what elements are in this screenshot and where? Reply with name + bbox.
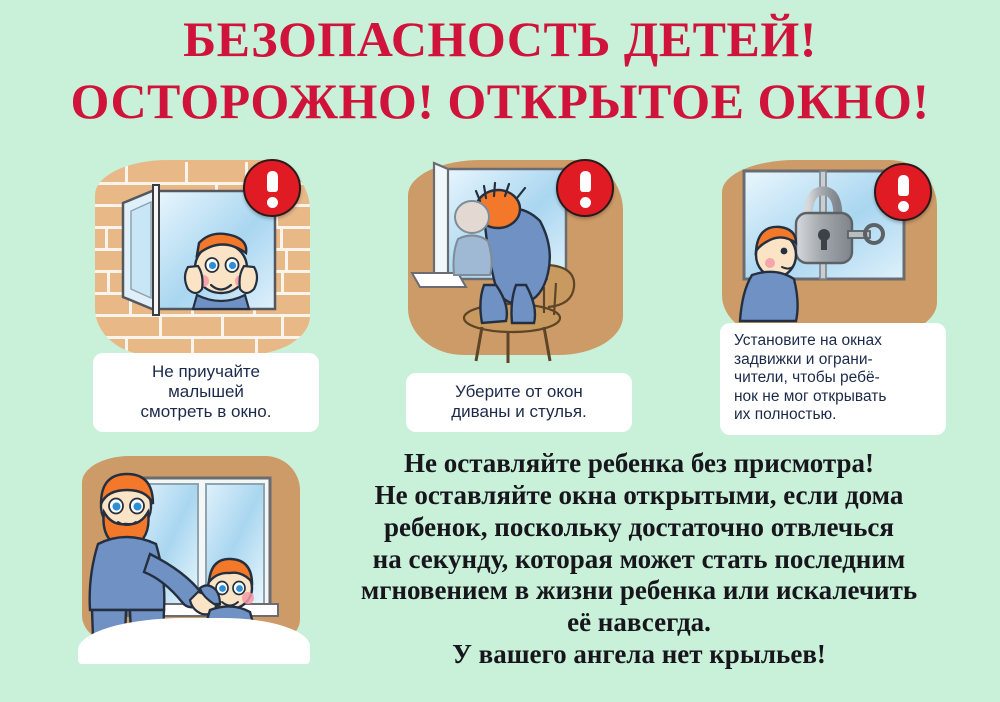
panel-caption: Уберите от окон диваны и стулья. [406, 373, 632, 432]
page-title: БЕЗОПАСНОСТЬ ДЕТЕЙ! ОСТОРОЖНО! ОТКРЫТОЕ … [0, 0, 1000, 126]
exclamation-warning-icon [556, 159, 614, 217]
exclamation-warning-icon [243, 159, 301, 217]
body-line: Не оставляйте ребенка без присмотра! [282, 448, 996, 480]
caption-line: задвижки и ограни- [734, 351, 940, 370]
body-line: Не оставляйте окна открытыми, если дома [282, 480, 996, 512]
body-line: мгновением в жизни ребенка или искалечит… [282, 575, 996, 607]
body-line: У вашего ангела нет крыльев! [282, 639, 996, 671]
panel-child-on-chair: Уберите от окон диваны и стулья. [398, 155, 648, 435]
caption-line: их полностью. [734, 406, 940, 425]
caption-line: диваны и стулья. [412, 402, 626, 422]
title-line-1: БЕЗОПАСНОСТЬ ДЕТЕЙ! [0, 14, 1000, 64]
panel-row: Не приучайте малышей смотреть в окно. [0, 155, 1000, 435]
exclamation-warning-icon [874, 163, 932, 221]
body-line: её навсегда. [282, 607, 996, 639]
body-line: на секунду, которая может стать последни… [282, 544, 996, 576]
caption-line: нок не мог открывать [734, 388, 940, 407]
panel-locked-window: Установите на окнах задвижки и ограни- ч… [712, 155, 962, 435]
caption-line: чители, чтобы ребё- [734, 369, 940, 388]
body-line: ребенок, поскольку достаточно отвлечься [282, 512, 996, 544]
body-text: Не оставляйте ребенка без присмотра! Не … [282, 448, 996, 671]
caption-line: Уберите от окон [412, 382, 626, 402]
panel-caption: Не приучайте малышей смотреть в окно. [93, 353, 319, 432]
caption-line: Не приучайте [99, 362, 313, 382]
panel-child-at-window: Не приучайте малышей смотреть в окно. [85, 155, 335, 435]
panel-father-and-child [78, 452, 310, 664]
title-line-2: ОСТОРОЖНО! ОТКРЫТОЕ ОКНО! [0, 76, 1000, 126]
caption-line: смотреть в окно. [99, 402, 313, 422]
caption-line: Установите на окнах [734, 332, 940, 351]
panel-caption: Установите на окнах задвижки и ограни- ч… [720, 323, 946, 435]
caption-line: малышей [99, 382, 313, 402]
